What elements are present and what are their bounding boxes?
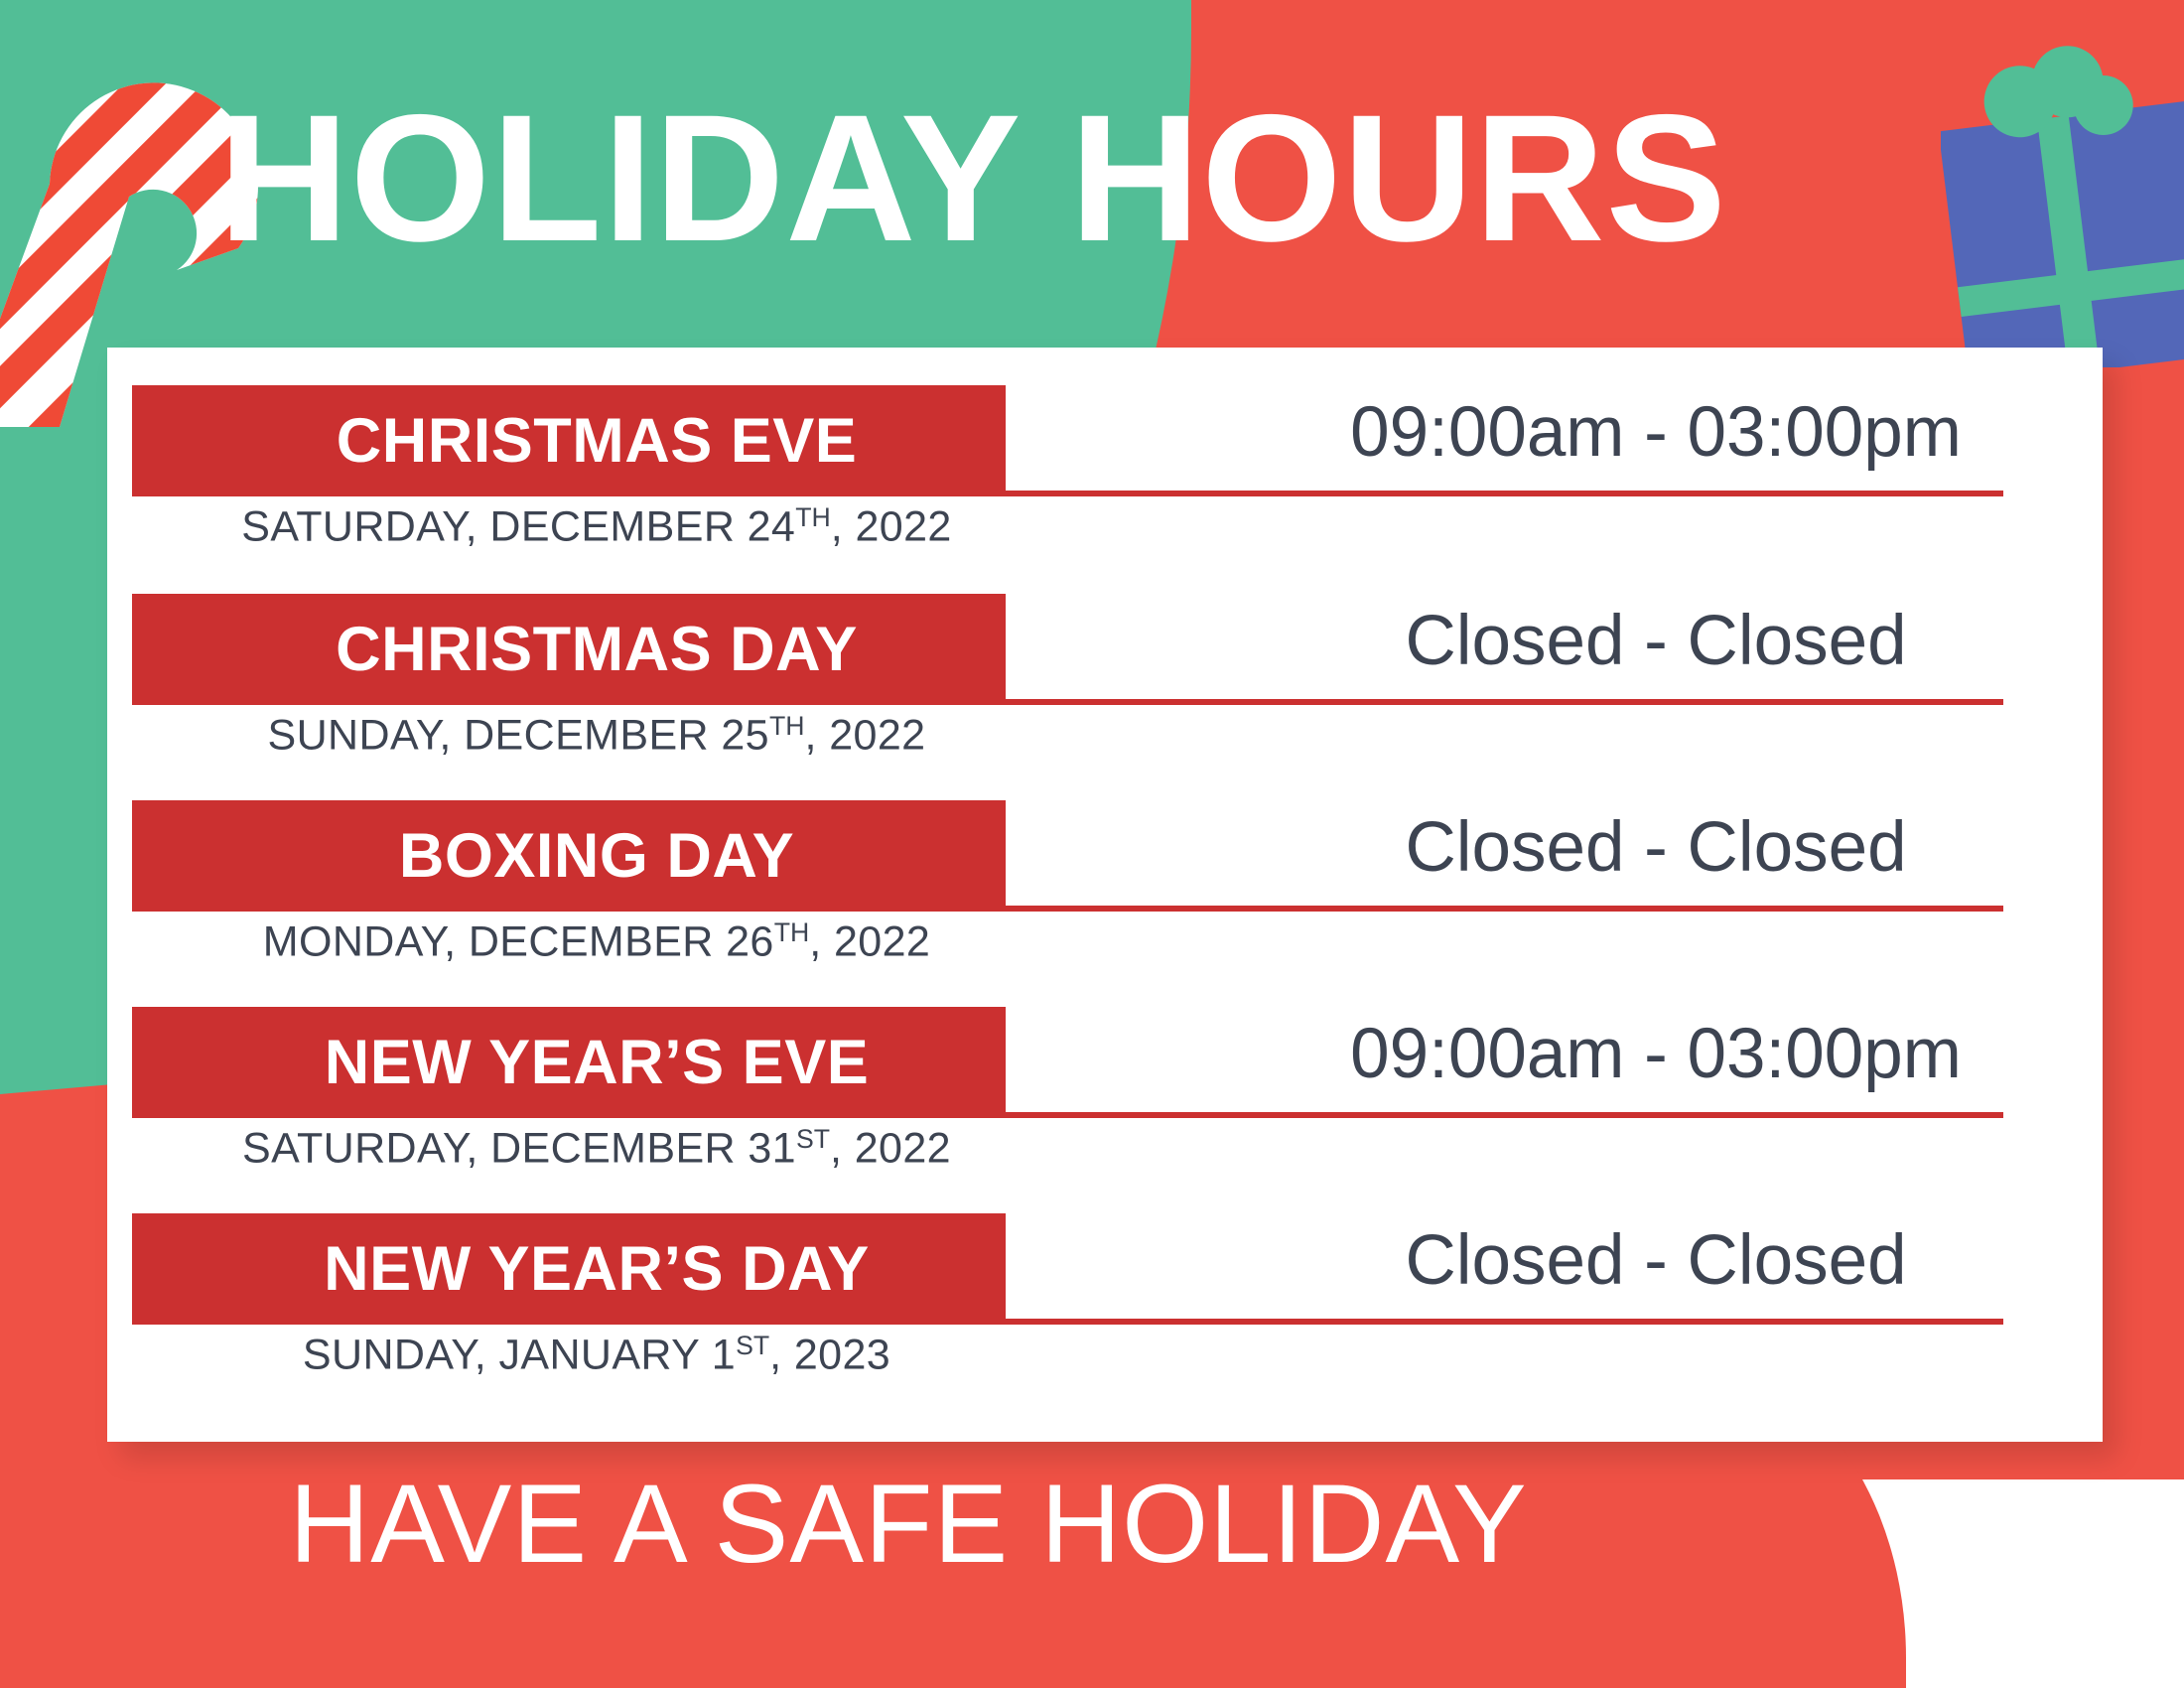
holiday-name: CHRISTMAS DAY <box>132 594 1006 705</box>
holiday-hours: 09:00am - 03:00pm <box>1279 373 2033 492</box>
holiday-date: SATURDAY, DECEMBER 24TH, 2022 <box>132 502 1006 552</box>
date-weekday: SUNDAY, JANUARY 1 <box>303 1332 736 1379</box>
date-year: , 2023 <box>769 1332 890 1379</box>
holiday-label-bar: NEW YEAR’S EVE <box>132 1007 1006 1118</box>
date-ordinal: TH <box>769 711 805 741</box>
date-year: , 2022 <box>809 918 930 966</box>
date-weekday: MONDAY, DECEMBER 26 <box>263 918 774 966</box>
date-ordinal: TH <box>774 917 810 947</box>
holiday-hours: Closed - Closed <box>1279 788 2033 908</box>
holiday-label-bar: BOXING DAY <box>132 800 1006 912</box>
hours-underline <box>1006 1112 2003 1118</box>
schedule-row: NEW YEAR’S DAY SUNDAY, JANUARY 1ST, 2023… <box>107 1213 2103 1422</box>
date-year: , 2022 <box>830 1125 951 1173</box>
date-ordinal: ST <box>796 1124 830 1154</box>
date-year: , 2022 <box>831 503 952 551</box>
date-weekday: SUNDAY, DECEMBER 25 <box>268 712 769 760</box>
date-year: , 2022 <box>805 712 926 760</box>
hours-underline <box>1006 491 2003 496</box>
hours-underline <box>1006 699 2003 705</box>
holiday-label-bar: NEW YEAR’S DAY <box>132 1213 1006 1325</box>
page-title: HOLIDAY HOURS <box>0 87 1946 268</box>
gift-box-icon <box>1941 25 2184 367</box>
schedule-row: NEW YEAR’S EVE SATURDAY, DECEMBER 31ST, … <box>107 1007 2103 1215</box>
date-weekday: SATURDAY, DECEMBER 31 <box>242 1125 796 1173</box>
date-weekday: SATURDAY, DECEMBER 24 <box>241 503 795 551</box>
holiday-date: MONDAY, DECEMBER 26TH, 2022 <box>132 917 1006 967</box>
holiday-hours: Closed - Closed <box>1279 582 2033 701</box>
holiday-name: CHRISTMAS EVE <box>132 385 1006 496</box>
schedule-row: CHRISTMAS EVE SATURDAY, DECEMBER 24TH, 2… <box>107 385 2103 594</box>
holiday-date: SUNDAY, DECEMBER 25TH, 2022 <box>132 711 1006 761</box>
holiday-date: SATURDAY, DECEMBER 31ST, 2022 <box>132 1124 1006 1174</box>
date-ordinal: TH <box>795 502 831 532</box>
holiday-name: NEW YEAR’S DAY <box>132 1213 1006 1325</box>
hours-card: CHRISTMAS EVE SATURDAY, DECEMBER 24TH, 2… <box>107 348 2103 1442</box>
holiday-name: NEW YEAR’S EVE <box>132 1007 1006 1118</box>
holiday-name: BOXING DAY <box>132 800 1006 912</box>
holiday-hours: 09:00am - 03:00pm <box>1279 995 2033 1114</box>
holiday-hours: Closed - Closed <box>1279 1201 2033 1321</box>
schedule-row: BOXING DAY MONDAY, DECEMBER 26TH, 2022 C… <box>107 800 2103 1009</box>
schedule-list: CHRISTMAS EVE SATURDAY, DECEMBER 24TH, 2… <box>107 348 2103 1442</box>
holiday-date: SUNDAY, JANUARY 1ST, 2023 <box>132 1331 1006 1380</box>
schedule-row: CHRISTMAS DAY SUNDAY, DECEMBER 25TH, 202… <box>107 594 2103 802</box>
holiday-hours-poster: HOLIDAY HOURS CHRISTMAS EVE SATURDAY, DE… <box>0 0 2184 1688</box>
hours-underline <box>1006 906 2003 912</box>
holiday-label-bar: CHRISTMAS DAY <box>132 594 1006 705</box>
date-ordinal: ST <box>736 1331 769 1360</box>
footer-message: HAVE A SAFE HOLIDAY <box>0 1460 1817 1588</box>
holiday-label-bar: CHRISTMAS EVE <box>132 385 1006 496</box>
hours-underline <box>1006 1319 2003 1325</box>
